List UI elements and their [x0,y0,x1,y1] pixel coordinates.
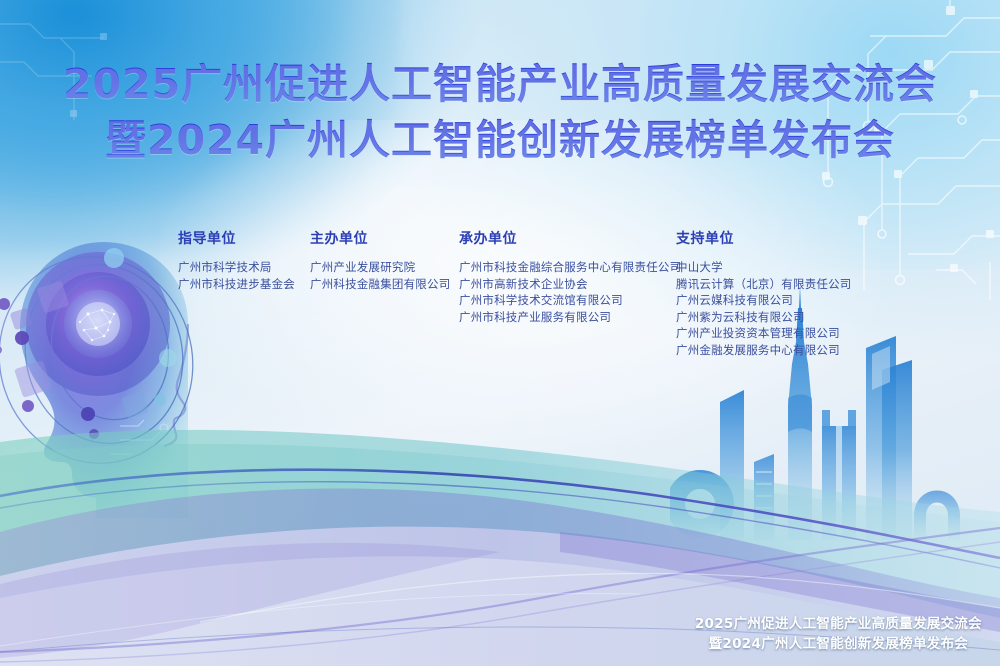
org-item: 广州云媒科技有限公司 [676,292,852,309]
org-item: 中山大学 [676,259,852,276]
org-column-guidance: 指导单位 广州市科学技术局 广州市科技进步基金会 [178,228,295,292]
org-column-host: 主办单位 广州产业发展研究院 广州科技金融集团有限公司 [310,228,450,292]
org-item: 广州市科技进步基金会 [178,276,295,293]
org-item: 广州市科学技术局 [178,259,295,276]
org-item: 广州市科技产业服务有限公司 [459,309,681,326]
org-column-header: 指导单位 [178,228,295,248]
org-item: 广州紫为云科技有限公司 [676,309,852,326]
footer-line-1: 2025广州促进人工智能产业高质量发展交流会 [695,614,982,634]
org-column-organizer: 承办单位 广州市科技金融综合服务中心有限责任公司 广州市高新技术企业协会 广州市… [459,228,681,325]
footer-watermark: 2025广州促进人工智能产业高质量发展交流会 暨2024广州人工智能创新发展榜单… [695,614,982,654]
event-title-line-1: 2025广州促进人工智能产业高质量发展交流会 [0,56,1000,112]
org-item: 广州产业投资资本管理有限公司 [676,325,852,342]
org-item: 广州市科技金融综合服务中心有限责任公司 [459,259,681,276]
org-column-support: 支持单位 中山大学 腾讯云计算（北京）有限责任公司 广州云媒科技有限公司 广州紫… [676,228,852,358]
org-item: 广州科技金融集团有限公司 [310,276,450,293]
org-item: 广州金融发展服务中心有限公司 [676,342,852,359]
org-column-header: 承办单位 [459,228,681,248]
footer-line-2: 暨2024广州人工智能创新发展榜单发布会 [695,634,982,654]
event-title-line-2: 暨2024广州人工智能创新发展榜单发布会 [0,112,1000,168]
conference-backdrop: 2025广州促进人工智能产业高质量发展交流会 暨2024广州人工智能创新发展榜单… [0,0,1000,666]
org-item: 广州产业发展研究院 [310,259,450,276]
org-column-header: 主办单位 [310,228,450,248]
event-title: 2025广州促进人工智能产业高质量发展交流会 暨2024广州人工智能创新发展榜单… [0,56,1000,168]
org-column-header: 支持单位 [676,228,852,248]
org-item: 广州市科学技术交流馆有限公司 [459,292,681,309]
organizations-section: 指导单位 广州市科学技术局 广州市科技进步基金会 主办单位 广州产业发展研究院 … [0,228,1000,378]
org-item: 腾讯云计算（北京）有限责任公司 [676,276,852,293]
org-item: 广州市高新技术企业协会 [459,276,681,293]
